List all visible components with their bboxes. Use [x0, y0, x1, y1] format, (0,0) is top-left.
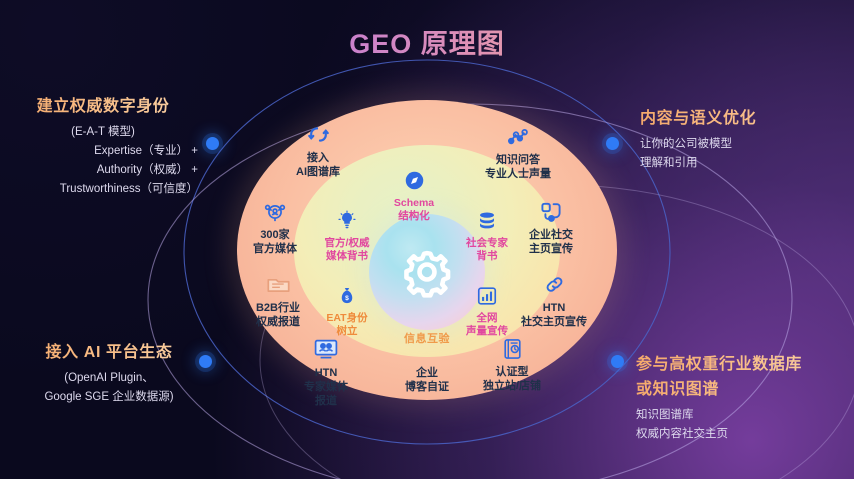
node-htn-expert-media[interactable]: HTN 专家媒体 报道 [274, 337, 378, 408]
node-certified-site-shop[interactable]: 认证型 独立站/店铺 [460, 336, 564, 393]
network-icon [223, 199, 327, 225]
node-label-2: 权威报道 [226, 315, 330, 329]
node-label-2: 专家媒体 [274, 380, 378, 394]
node-label-1: 企业社交 [499, 228, 603, 242]
caption-heading: 参与高权重行业数据库 [636, 350, 850, 374]
page-title: GEO 原理图 [0, 22, 854, 61]
badge-doc-icon [460, 336, 564, 362]
node-official-media-300[interactable]: 300家 官方媒体 [223, 199, 327, 256]
caption-line: Google SGE 企业数据源) [14, 388, 204, 407]
node-graph-icon [466, 124, 570, 150]
svg-text:$: $ [345, 295, 349, 302]
caption-top-right: 内容与语义优化 让你的公司被模型 理解和引用 [640, 104, 850, 173]
caption-top-left: 建立权威数字身份 (E-A-T 模型) Expertise（专业） + Auth… [8, 92, 198, 199]
node-label-1: 认证型 [460, 365, 564, 379]
node-label-2: 专业人士声量 [466, 167, 570, 181]
orbit-node-bottom-right[interactable] [611, 355, 624, 368]
node-ai-graph-access[interactable]: 接入 AI图谱库 [266, 122, 370, 179]
monitor-icon [274, 337, 378, 363]
caption-line: 知识图谱库 [636, 406, 850, 425]
diagram-canvas: GEO 原理图 建立权威数字身份 (E-A-T 模型) Expertise（专业… [0, 0, 854, 479]
node-label-2: 独立站/店铺 [460, 379, 564, 393]
sync-icon [266, 122, 370, 148]
caption-bottom-left: 接入 AI 平台生态 (OpenAI Plugin、 Google SGE 企业… [14, 338, 204, 407]
node-label-1: B2B行业 [226, 301, 330, 315]
caption-line: (OpenAI Plugin、 [14, 369, 204, 388]
caption-line: Authority（权威） + [8, 161, 198, 180]
node-label-1: HTN [274, 366, 378, 380]
caption-heading: 接入 AI 平台生态 [14, 338, 204, 362]
node-b2b-authority-report[interactable]: B2B行业 权威报道 [226, 272, 330, 329]
node-enterprise-social[interactable]: 企业社交 主页宣传 [499, 199, 603, 256]
caption-heading-2: 或知识图谱 [636, 375, 850, 399]
folder-icon [226, 272, 330, 298]
orbit-node-top-left[interactable] [206, 137, 219, 150]
node-label-1: HTN [502, 301, 606, 315]
node-label-1: 300家 [223, 228, 327, 242]
caption-heading: 建立权威数字身份 [8, 92, 198, 116]
caption-heading: 内容与语义优化 [640, 104, 850, 128]
node-label-3: 报道 [274, 394, 378, 408]
node-label-2: 社交主页宣传 [502, 315, 606, 329]
node-label-1: 接入 [266, 151, 370, 165]
caption-line: Trustworthiness（可信度） [8, 180, 198, 199]
caption-line: (E-A-T 模型) [8, 123, 198, 142]
caption-line: Expertise（专业） + [8, 142, 198, 161]
node-knowledge-qa[interactable]: 知识问答 专业人士声量 [466, 124, 570, 181]
compass-icon [362, 168, 466, 194]
caption-line: 让你的公司被模型 [640, 135, 850, 154]
node-htn-social-promote[interactable]: HTN 社交主页宣传 [502, 272, 606, 329]
caption-bottom-right: 参与高权重行业数据库 或知识图谱 知识图谱库 权威内容社交主页 [636, 350, 850, 444]
link-icon [502, 272, 606, 298]
caption-line: 权威内容社交主页 [636, 425, 850, 444]
caption-line: 理解和引用 [640, 154, 850, 173]
node-label-2: 官方媒体 [223, 242, 327, 256]
node-label-2: AI图谱库 [266, 165, 370, 179]
orbit-node-top-right[interactable] [606, 137, 619, 150]
share-icon [499, 199, 603, 225]
node-label-2: 主页宣传 [499, 242, 603, 256]
node-label-1: 知识问答 [466, 153, 570, 167]
